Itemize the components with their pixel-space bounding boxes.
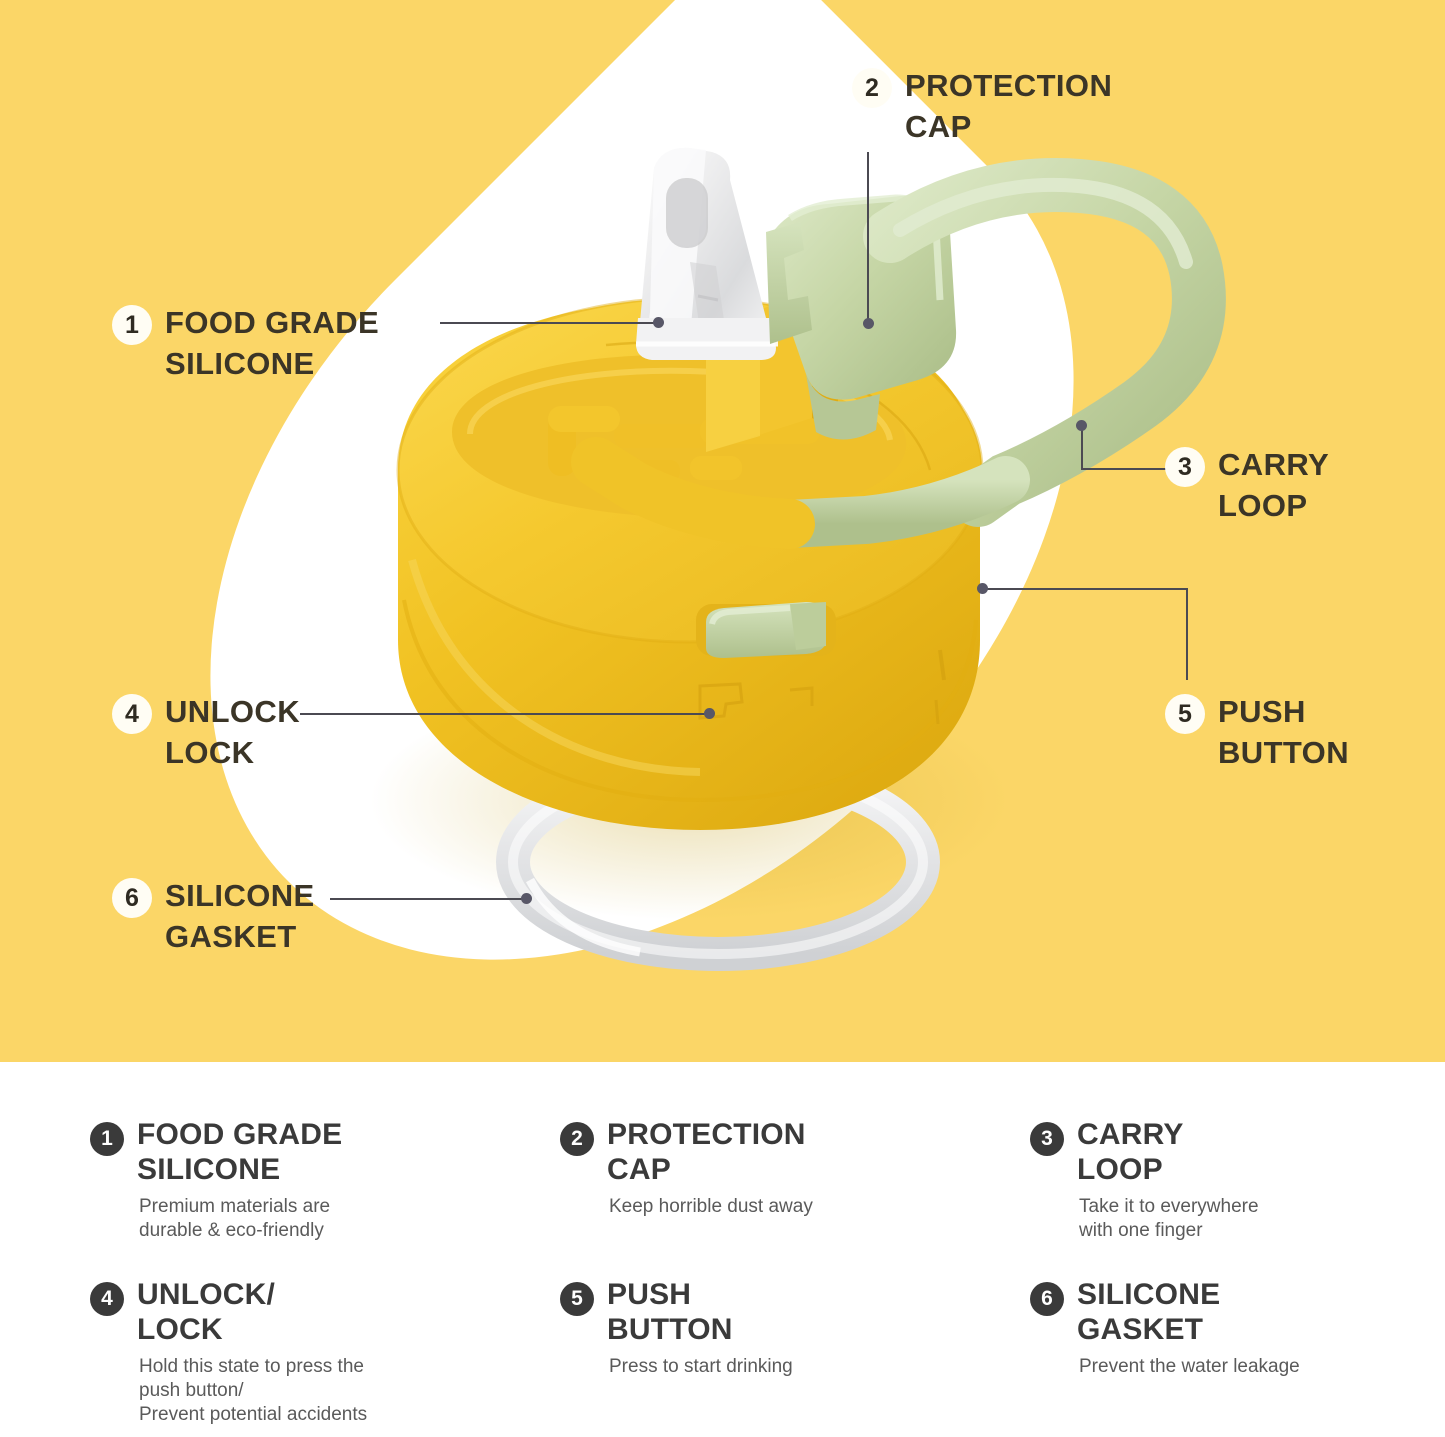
legend-item-5: 5 PUSH BUTTON Press to start drinking	[560, 1277, 1030, 1437]
legend-title-6: SILICONE GASKET	[1077, 1277, 1300, 1348]
feature-legend: 1 FOOD GRADE SILICONE Premium materials …	[0, 1062, 1445, 1417]
legend-item-1: 1 FOOD GRADE SILICONE Premium materials …	[90, 1117, 560, 1277]
legend-desc-5: Press to start drinking	[609, 1355, 793, 1379]
leader-dot-2	[863, 318, 874, 329]
legend-badge-1: 1	[90, 1122, 124, 1156]
legend-badge-2: 2	[560, 1122, 594, 1156]
legend-title-3: CARRY LOOP	[1077, 1117, 1259, 1188]
legend-badge-6: 6	[1030, 1282, 1064, 1316]
callout-1-food-grade-silicone: 1 FOOD GRADE SILICONE	[112, 303, 379, 385]
callout-label-1: FOOD GRADE SILICONE	[165, 303, 379, 385]
legend-desc-6: Prevent the water leakage	[1079, 1355, 1300, 1379]
callout-3-carry-loop: 3 CARRY LOOP	[1165, 445, 1329, 527]
legend-title-5: PUSH BUTTON	[607, 1277, 793, 1348]
leader-line-3b	[1081, 468, 1171, 470]
leader-line-2	[867, 152, 869, 324]
callout-label-5: PUSH BUTTON	[1218, 692, 1349, 774]
legend-badge-5: 5	[560, 1282, 594, 1316]
leader-line-6	[330, 898, 526, 900]
callout-badge-1: 1	[112, 305, 152, 345]
legend-badge-4: 4	[90, 1282, 124, 1316]
leader-dot-1	[653, 317, 664, 328]
callout-2-protection-cap: 2 PROTECTION CAP	[852, 66, 1112, 148]
legend-title-2: PROTECTION CAP	[607, 1117, 813, 1188]
legend-badge-3: 3	[1030, 1122, 1064, 1156]
legend-item-4: 4 UNLOCK/ LOCK Hold this state to press …	[90, 1277, 560, 1437]
leader-dot-6	[521, 893, 532, 904]
push-button-part	[696, 602, 836, 658]
callout-badge-6: 6	[112, 878, 152, 918]
hero-panel: 1 FOOD GRADE SILICONE 2 PROTECTION CAP 3…	[0, 0, 1445, 1062]
callout-label-4: UNLOCK LOCK	[165, 692, 300, 774]
callout-badge-4: 4	[112, 694, 152, 734]
callout-badge-2: 2	[852, 68, 892, 108]
callout-badge-5: 5	[1165, 694, 1205, 734]
callout-label-2: PROTECTION CAP	[905, 66, 1112, 148]
leader-dot-5	[977, 583, 988, 594]
legend-desc-1: Premium materials are durable & eco-frie…	[139, 1195, 342, 1244]
callout-label-3: CARRY LOOP	[1218, 445, 1329, 527]
callout-4-unlock-lock: 4 UNLOCK LOCK	[112, 692, 300, 774]
legend-item-2: 2 PROTECTION CAP Keep horrible dust away	[560, 1117, 1030, 1277]
leader-line-5b	[982, 588, 1188, 590]
legend-item-6: 6 SILICONE GASKET Prevent the water leak…	[1030, 1277, 1445, 1437]
food-grade-silicone-part	[636, 148, 778, 360]
leader-dot-4	[704, 708, 715, 719]
leader-line-1	[440, 322, 658, 324]
callout-badge-3: 3	[1165, 447, 1205, 487]
legend-desc-3: Take it to everywhere with one finger	[1079, 1195, 1259, 1244]
legend-item-3: 3 CARRY LOOP Take it to everywhere with …	[1030, 1117, 1445, 1277]
callout-label-6: SILICONE GASKET	[165, 876, 315, 958]
legend-desc-2: Keep horrible dust away	[609, 1195, 813, 1219]
leader-line-4	[300, 713, 710, 715]
leader-line-5a	[1186, 588, 1188, 680]
callout-5-push-button: 5 PUSH BUTTON	[1165, 692, 1349, 774]
leader-dot-3	[1076, 420, 1087, 431]
legend-title-1: FOOD GRADE SILICONE	[137, 1117, 342, 1188]
legend-title-4: UNLOCK/ LOCK	[137, 1277, 367, 1348]
callout-6-silicone-gasket: 6 SILICONE GASKET	[112, 876, 315, 958]
